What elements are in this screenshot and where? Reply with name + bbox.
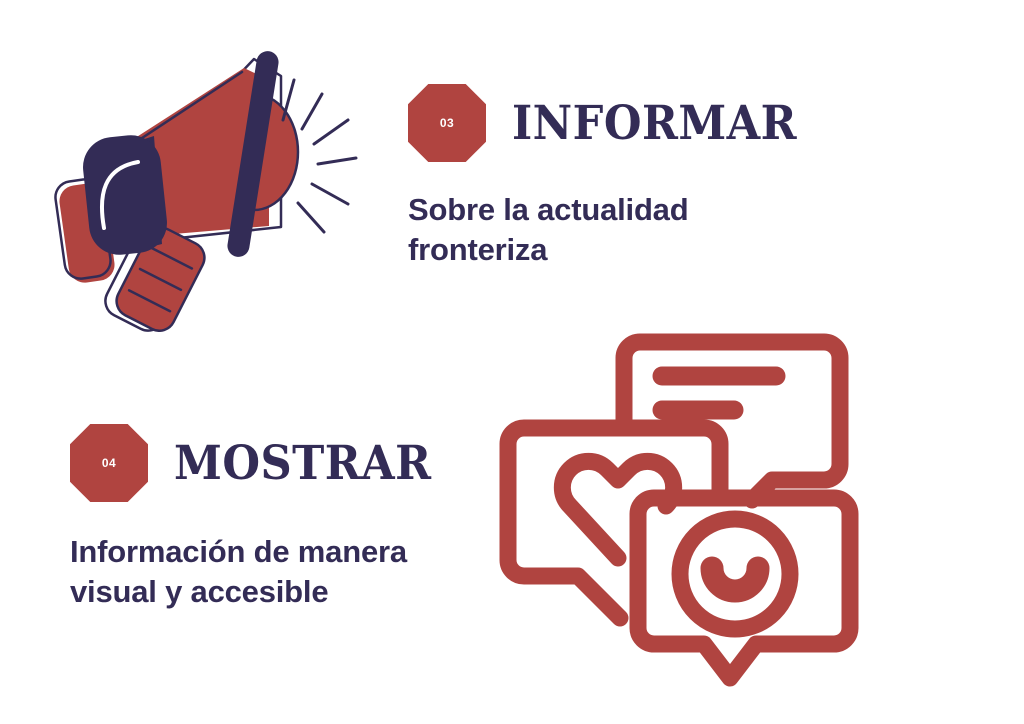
section-header-mostrar: 04 MOSTRAR	[70, 424, 500, 502]
speech-bubbles-icon	[490, 318, 880, 704]
page-title-mostrar: MOSTRAR	[174, 440, 432, 487]
subtitle-informar: Sobre la actualidad fronteriza	[408, 190, 828, 271]
megaphone-icon	[46, 32, 396, 332]
subtitle-line-2: fronteriza	[408, 230, 828, 270]
section-mostrar: 04 MOSTRAR Información de manera visual …	[70, 424, 500, 613]
subtitle-line-2: visual y accesible	[70, 572, 500, 612]
infographic-canvas: 03 INFORMAR Sobre la actualidad fronteri…	[0, 0, 1024, 724]
subtitle-mostrar: Información de manera visual y accesible	[70, 532, 500, 613]
page-title-informar: INFORMAR	[512, 100, 797, 147]
badge-number: 03	[440, 117, 454, 129]
badge-octagon-03: 03	[408, 84, 486, 162]
subtitle-line-1: Sobre la actualidad	[408, 190, 828, 230]
badge-number: 04	[102, 457, 116, 469]
section-header-informar: 03 INFORMAR	[408, 84, 828, 162]
subtitle-line-1: Información de manera	[70, 532, 500, 572]
section-informar: 03 INFORMAR Sobre la actualidad fronteri…	[408, 84, 828, 271]
badge-octagon-04: 04	[70, 424, 148, 502]
